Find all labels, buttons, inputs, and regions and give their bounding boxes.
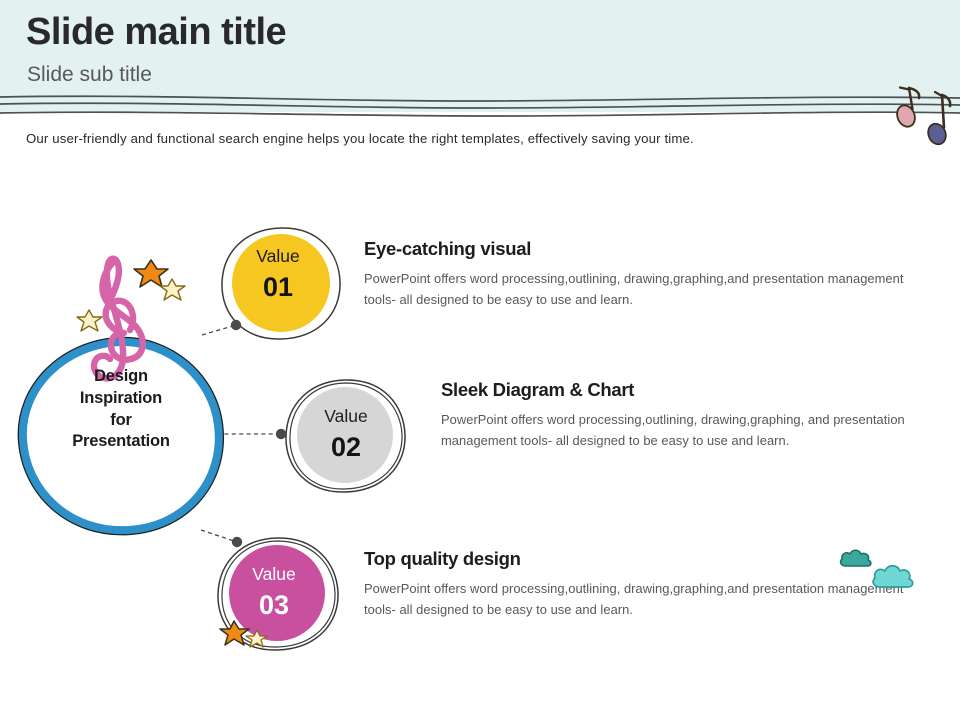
value-block-2-heading: Sleek Diagram & Chart [441, 379, 911, 401]
value-node-2-word: Value [276, 408, 416, 426]
value-node-3-number: 03 [204, 592, 344, 619]
hub-label: Design Inspiration for Presentation [21, 366, 221, 453]
cloud-cyan-icon [873, 566, 912, 587]
value-node-1-number: 01 [208, 274, 348, 301]
hub-label-line-2: Inspiration [21, 388, 221, 410]
star-cream-icon [77, 310, 102, 331]
value-node-1-dot [231, 320, 241, 330]
clouds-group [836, 544, 920, 594]
diagram-region: Design Inspiration for Presentation Valu… [0, 190, 960, 670]
value-block-1-heading: Eye-catching visual [364, 238, 936, 260]
intro-paragraph: Our user-friendly and functional search … [26, 131, 926, 146]
star-cream-icon [160, 279, 185, 300]
wavy-lines-divider-icon [0, 92, 960, 120]
page-title: Slide main title [26, 11, 286, 54]
page-subtitle: Slide sub title [27, 62, 152, 87]
value-node-2-number: 02 [276, 434, 416, 461]
hub-label-line-4: Presentation [21, 431, 221, 453]
hub-label-line-1: Design [21, 366, 221, 388]
value-node-3-dot [232, 537, 242, 547]
value-block-1-body: PowerPoint offers word processing,outlin… [364, 269, 936, 311]
star-orange-icon [134, 260, 168, 287]
value-block-1: Eye-catching visual PowerPoint offers wo… [364, 238, 936, 311]
hub-label-line-3: for [21, 410, 221, 432]
value-block-2-body: PowerPoint offers word processing,outlin… [441, 410, 911, 452]
cloud-teal-icon [841, 550, 871, 566]
eighth-note-pink-icon [894, 88, 919, 130]
eighth-note-blue-icon [925, 92, 950, 147]
value-node-1-word: Value [208, 248, 348, 266]
value-block-2: Sleek Diagram & Chart PowerPoint offers … [441, 379, 911, 452]
value-node-3-word: Value [204, 566, 344, 584]
